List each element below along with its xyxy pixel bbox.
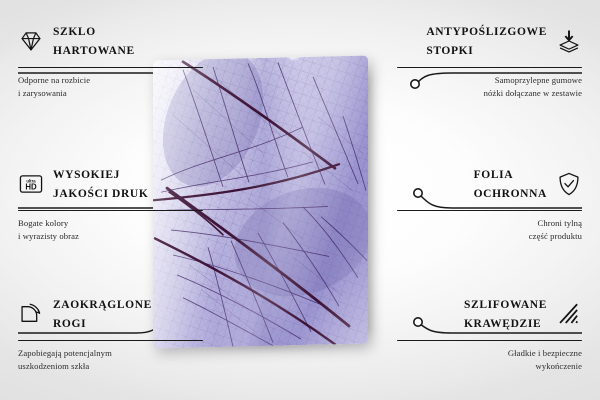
rounded-corner-icon <box>18 301 44 327</box>
diamond-icon <box>18 28 44 54</box>
feature-title: SZLIFOWANE KRAWĘDZIE <box>464 295 547 333</box>
feature-description: Zapobiegają potencjalnym uszkodzeniom sz… <box>18 347 203 372</box>
hatched-edge-icon <box>556 301 582 327</box>
feature-rounded-corners: ZAOKRĄGLONE ROGI Zapobiegają potencjalny… <box>18 295 203 372</box>
feature-title: SZKLO HARTOWANE <box>53 22 135 60</box>
feature-high-quality-print: ultra HD WYSOKIEJ JAKOŚCI DRUK Bogate ko… <box>18 165 203 242</box>
divider <box>18 340 203 342</box>
divider <box>18 210 203 212</box>
feature-anti-slip-feet: ANTYPOŚLIZGOWE STOPKI Samoprzylepne gumo… <box>397 22 582 99</box>
feature-description: Gładkie i bezpieczne wykończenie <box>397 347 582 372</box>
feature-title: WYSOKIEJ JAKOŚCI DRUK <box>53 165 148 203</box>
feature-title: ZAOKRĄGLONE ROGI <box>53 295 152 333</box>
divider <box>397 210 582 212</box>
stack-down-arrow-icon <box>556 28 582 54</box>
ultra-hd-icon: ultra HD <box>18 171 44 197</box>
shield-check-icon <box>556 171 582 197</box>
feature-protective-foil: FOLIA OCHRONNA Chroni tylną część produk… <box>397 165 582 242</box>
svg-text:HD: HD <box>25 183 37 192</box>
infographic-canvas: SZKLO HARTOWANE Odporne na rozbicie i za… <box>0 0 600 400</box>
feature-description: Samoprzylepne gumowe nóżki dołączane w z… <box>397 74 582 99</box>
divider <box>18 67 203 69</box>
feature-description: Chroni tylną część produktu <box>397 217 582 242</box>
feature-tempered-glass: SZKLO HARTOWANE Odporne na rozbicie i za… <box>18 22 203 99</box>
feature-title: ANTYPOŚLIZGOWE STOPKI <box>426 22 547 60</box>
divider <box>397 340 582 342</box>
feature-polished-edges: SZLIFOWANE KRAWĘDZIE Gładkie i bezpieczn… <box>397 295 582 372</box>
divider <box>397 67 582 69</box>
feature-description: Odporne na rozbicie i zarysowania <box>18 74 203 99</box>
feature-description: Bogate kolory i wyrazisty obraz <box>18 217 203 242</box>
feature-title: FOLIA OCHRONNA <box>474 165 547 203</box>
